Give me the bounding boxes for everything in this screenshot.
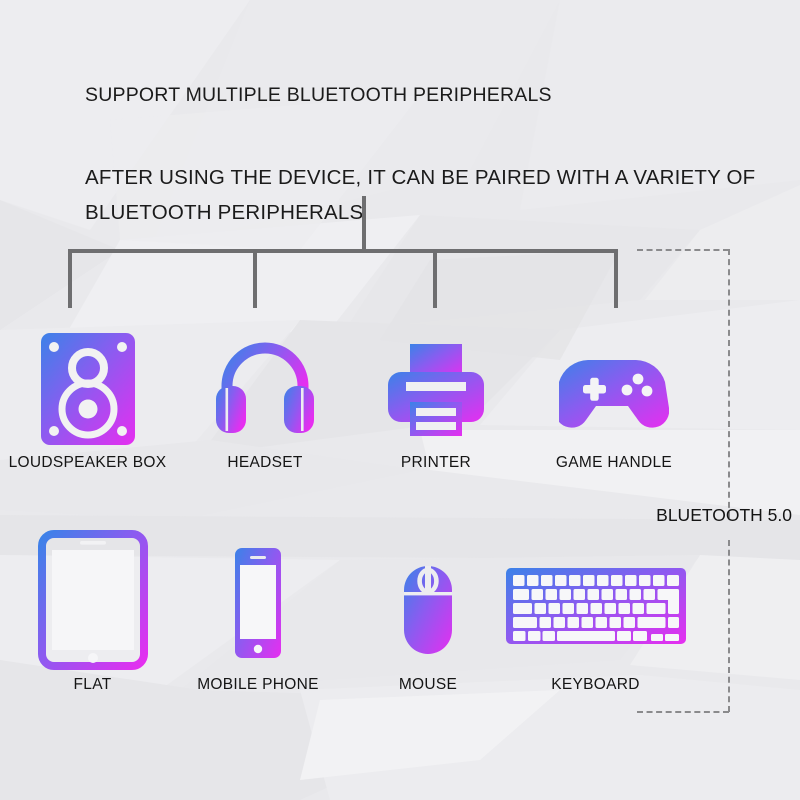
- device-game-handle: GAME HANDLE: [520, 330, 708, 472]
- connector-leg-2: [253, 252, 257, 308]
- connector-leg-3: [433, 252, 437, 308]
- device-printer: PRINTER: [352, 330, 520, 472]
- mouse-icon: [395, 530, 461, 670]
- device-label: MOUSE: [399, 676, 457, 694]
- device-flat-tablet: FLAT: [0, 530, 185, 694]
- connector-horizontal-bar: [68, 249, 618, 253]
- smartphone-icon: [223, 530, 293, 670]
- dashed-bracket-top: [637, 249, 729, 251]
- subtitle-line-2: BLUETOOTH PERIPHERALS: [85, 201, 363, 225]
- subtitle-line-1: AFTER USING THE DEVICE, IT CAN BE PAIRED…: [85, 166, 755, 190]
- device-keyboard: KEYBOARD: [498, 530, 693, 694]
- connector-leg-4: [614, 252, 618, 308]
- headset-icon: [213, 330, 317, 448]
- connector-stem: [362, 196, 366, 252]
- page-title: SUPPORT MULTIPLE BLUETOOTH PERIPHERALS: [85, 84, 552, 107]
- dashed-bracket-bottom: [637, 711, 729, 713]
- dashed-bracket-right-lower: [728, 540, 730, 712]
- device-label: LOUDSPEAKER BOX: [9, 454, 167, 472]
- device-label: FLAT: [74, 676, 112, 694]
- keyboard-icon: [503, 530, 689, 670]
- device-label: HEADSET: [227, 454, 302, 472]
- dashed-bracket-right-upper: [728, 249, 730, 518]
- device-mobile-phone: MOBILE PHONE: [172, 530, 344, 694]
- device-label: KEYBOARD: [551, 676, 640, 694]
- device-loudspeaker-box: LOUDSPEAKER BOX: [0, 330, 175, 472]
- device-label: GAME HANDLE: [556, 454, 672, 472]
- infographic-canvas: SUPPORT MULTIPLE BLUETOOTH PERIPHERALS A…: [0, 0, 800, 800]
- bluetooth-version-badge: BLUETOOTH 5.0: [656, 505, 792, 526]
- tablet-icon: [38, 530, 148, 670]
- gamepad-icon: [559, 330, 669, 448]
- device-headset: HEADSET: [175, 330, 355, 472]
- device-label: MOBILE PHONE: [197, 676, 319, 694]
- connector-leg-1: [68, 252, 72, 308]
- device-label: PRINTER: [401, 454, 471, 472]
- loudspeaker-icon: [38, 330, 138, 448]
- printer-icon: [384, 330, 488, 448]
- device-mouse: MOUSE: [348, 530, 508, 694]
